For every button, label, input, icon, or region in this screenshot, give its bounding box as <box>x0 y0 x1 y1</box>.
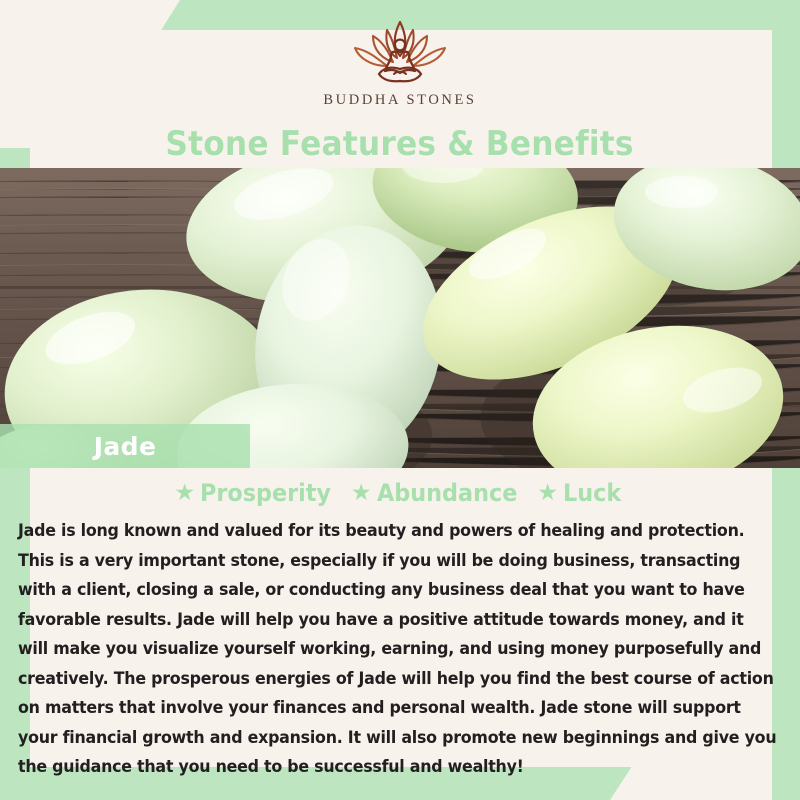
benefit-label: Luck <box>563 479 621 507</box>
headline-band: Stone Features & Benefits <box>0 120 800 168</box>
page-title: Stone Features & Benefits <box>166 124 634 164</box>
benefits-row: ★ Prosperity ★ Abundance ★ Luck <box>0 468 800 514</box>
content-stack: BUDDHA STONES Stone Features & Benefits <box>0 0 800 800</box>
star-icon: ★ <box>174 481 195 504</box>
brand-header: BUDDHA STONES <box>0 0 800 120</box>
benefit-item-abundance: ★ Abundance <box>351 479 528 507</box>
lotus-meditation-icon <box>325 16 475 88</box>
stone-name-badge: Jade <box>0 424 250 468</box>
benefit-label: Prosperity <box>200 479 331 507</box>
benefit-item-prosperity: ★ Prosperity <box>174 479 340 507</box>
stone-benefits-infographic: BUDDHA STONES Stone Features & Benefits <box>0 0 800 800</box>
description-section: Jade is long known and valued for its be… <box>0 514 800 800</box>
star-icon: ★ <box>537 481 558 504</box>
stone-photo: Jade <box>0 168 800 468</box>
benefit-label: Abundance <box>377 479 517 507</box>
benefit-item-luck: ★ Luck <box>537 479 625 507</box>
jade-stones-photo-illustration <box>0 168 800 468</box>
star-icon: ★ <box>351 481 372 504</box>
stone-name-label: Jade <box>94 432 157 461</box>
brand-name: BUDDHA STONES <box>323 92 476 109</box>
description-text: Jade is long known and valued for its be… <box>18 516 776 782</box>
